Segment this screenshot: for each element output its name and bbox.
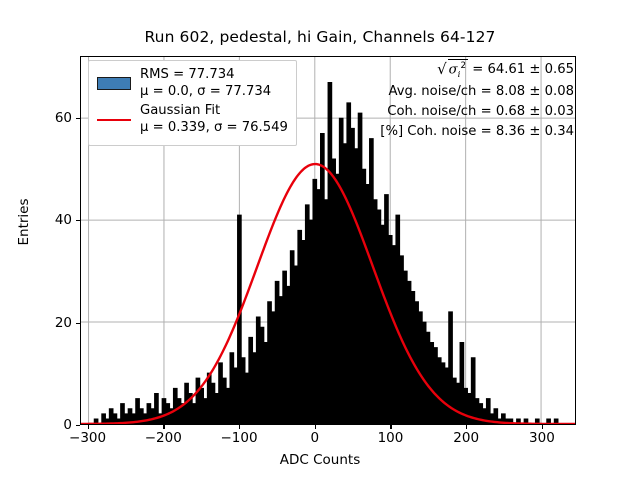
page-title: Run 602, pedestal, hi Gain, Channels 64-… (0, 28, 640, 46)
chart-legend[interactable]: RMS = 77.734 μ = 0.0, σ = 77.734 Gaussia… (88, 60, 297, 146)
y-tick-mark (76, 425, 80, 426)
y-tick-label: 0 (12, 417, 72, 433)
legend-item-rms-label: RMS = 77.734 (140, 67, 235, 82)
stat-line-rms-sigma: √σi2 = 64.61 ± 0.65 (380, 58, 574, 82)
x-tick-mark (542, 425, 543, 429)
x-tick-label: −100 (220, 430, 257, 446)
stat-line-coh-noise: Coh. noise/ch = 0.68 ± 0.03 (380, 102, 574, 122)
x-tick-mark (239, 425, 240, 429)
x-tick-mark (163, 425, 164, 429)
legend-item-fit-label: Gaussian Fit (140, 103, 220, 118)
x-tick-label: 200 (453, 430, 479, 446)
legend-item-rms[interactable]: RMS = 77.734 μ = 0.0, σ = 77.734 (95, 67, 288, 101)
x-tick-mark (315, 425, 316, 429)
y-tick-mark (76, 220, 80, 221)
stat-line-coh-noise-pct: [%] Coh. noise = 8.36 ± 0.34 (380, 122, 574, 142)
x-tick-mark (390, 425, 391, 429)
x-tick-mark (466, 425, 467, 429)
legend-patch-icon (95, 77, 133, 90)
legend-line-icon (95, 119, 133, 121)
stat-line-avg-noise: Avg. noise/ch = 8.08 ± 0.08 (380, 82, 574, 102)
legend-item-rms-detail: μ = 0.0, σ = 77.734 (140, 84, 271, 101)
x-tick-mark (88, 425, 89, 429)
x-tick-label: −300 (69, 430, 106, 446)
statistics-annotation: √σi2 = 64.61 ± 0.65 Avg. noise/ch = 8.08… (380, 58, 574, 143)
x-tick-label: 300 (529, 430, 555, 446)
legend-item-fit-detail: μ = 0.339, σ = 76.549 (140, 120, 288, 137)
x-axis-label: ADC Counts (0, 452, 640, 468)
y-tick-mark (76, 323, 80, 324)
y-tick-mark (76, 118, 80, 119)
x-tick-label: 0 (310, 430, 319, 446)
x-tick-label: 100 (378, 430, 404, 446)
legend-item-gaussian-fit[interactable]: Gaussian Fit μ = 0.339, σ = 76.549 (95, 103, 288, 137)
stat-line-rms-sigma-value: = 64.61 ± 0.65 (472, 62, 574, 77)
x-tick-label: −200 (145, 430, 182, 446)
y-axis-label: Entries (16, 122, 32, 322)
figure-canvas: Run 602, pedestal, hi Gain, Channels 64-… (0, 0, 640, 480)
radical-icon: √ (437, 60, 447, 78)
